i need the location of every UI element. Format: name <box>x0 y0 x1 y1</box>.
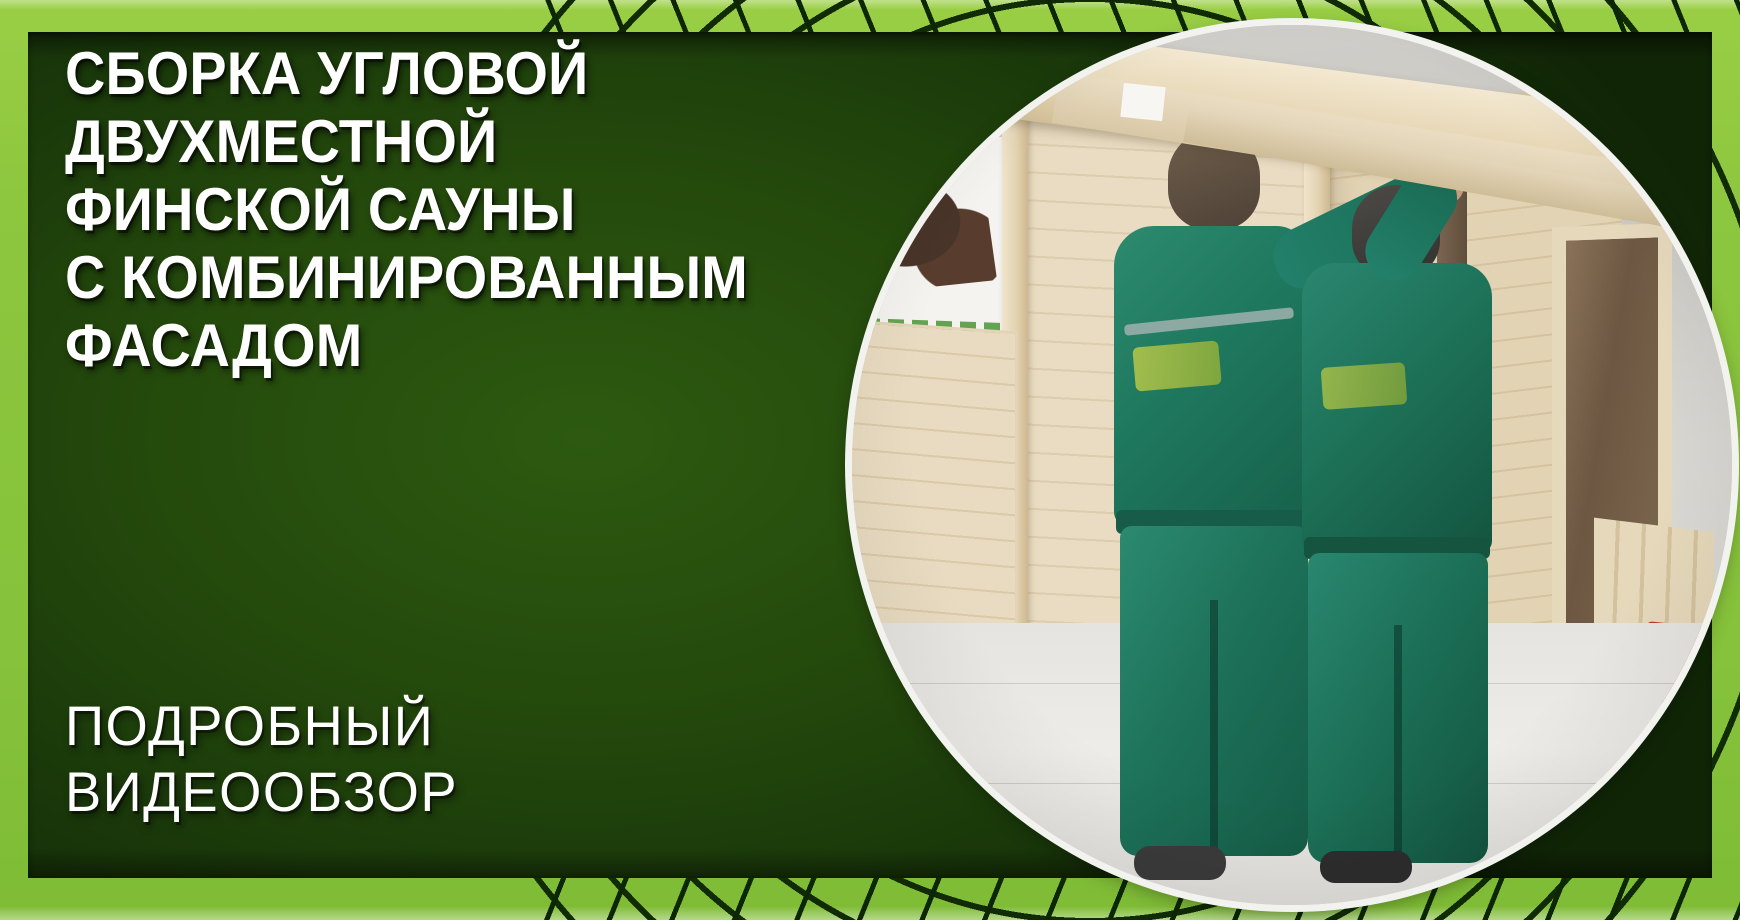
page-title: СБОРКА УГЛОВОЙ ДВУХМЕСТНОЙ ФИНСКОЙ САУНЫ… <box>65 40 855 380</box>
photo-worker-left-shoe <box>1134 846 1226 880</box>
headline-line-5: ФАСАДОМ <box>65 312 800 380</box>
photo-worker-right-shoe <box>1320 851 1412 883</box>
photo-worker-right-back-logo <box>1321 362 1408 410</box>
thumbnail-canvas: СБОРКА УГЛОВОЙ ДВУХМЕСТНОЙ ФИНСКОЙ САУНЫ… <box>0 0 1740 920</box>
photo-worker-right <box>1282 185 1562 885</box>
headline-line-2: ДВУХМЕСТНОЙ <box>65 108 800 176</box>
photo-worker-left-leg-seam <box>1210 600 1218 850</box>
photo-poster-logo <box>865 171 997 293</box>
photo-leaning-panel <box>852 318 1018 647</box>
circular-photo-frame <box>852 25 1732 905</box>
headline-line-3: ФИНСКОЙ САУНЫ <box>65 176 800 244</box>
headline-line-4: С КОМБИНИРОВАННЫМ <box>65 244 800 312</box>
sauna-assembly-photo <box>852 25 1732 905</box>
headline-line-1: СБОРКА УГЛОВОЙ <box>65 40 800 108</box>
subtitle-line-1: ПОДРОБНЫЙ <box>65 693 458 759</box>
photo-ceiling-tag <box>1120 83 1165 121</box>
photo-worker-left-back-logo <box>1132 340 1222 391</box>
subtitle: ПОДРОБНЫЙ ВИДЕООБЗОР <box>65 693 470 825</box>
photo-worker-right-leg-seam <box>1394 625 1402 861</box>
subtitle-line-2: ВИДЕООБЗОР <box>65 759 458 825</box>
